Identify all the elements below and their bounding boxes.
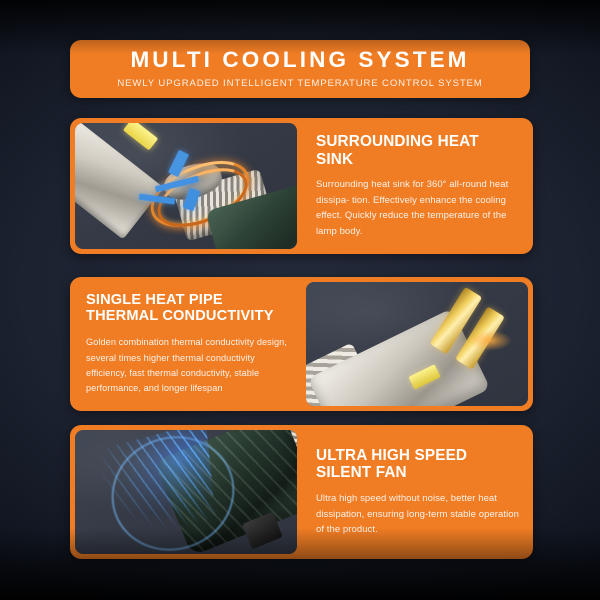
page-title: MULTI COOLING SYSTEM [130,49,469,72]
feature-card-surrounding-heat-sink: SURROUNDING HEAT SINK Surrounding heat s… [70,118,533,254]
card-text-pane: SINGLE HEAT PIPE THERMAL CONDUCTIVITY Go… [70,277,301,411]
card-title: SURROUNDING HEAT SINK [316,133,519,168]
card-image-pane [70,425,302,559]
product-photo-fan [75,430,297,554]
card-title: SINGLE HEAT PIPE THERMAL CONDUCTIVITY [86,292,291,326]
card-body: Ultra high speed without noise, better h… [316,491,519,537]
card-text-pane: SURROUNDING HEAT SINK Surrounding heat s… [302,118,533,254]
infographic-canvas: MULTI COOLING SYSTEM NEWLY UPGRADED INTE… [0,0,600,600]
photo-sheen-overlay [75,430,297,554]
card-image-pane [70,118,302,254]
card-image-pane [301,277,533,411]
feature-card-silent-fan: ULTRA HIGH SPEED SILENT FAN Ultra high s… [70,425,533,559]
photo-sheen-overlay [75,123,297,249]
feature-card-single-heat-pipe: SINGLE HEAT PIPE THERMAL CONDUCTIVITY Go… [70,277,533,411]
page-subtitle: NEWLY UPGRADED INTELLIGENT TEMPERATURE C… [117,79,482,89]
card-body: Golden combination thermal conductivity … [86,335,291,396]
card-body: Surrounding heat sink for 360° all-round… [316,177,519,239]
product-photo-heat-sink [75,123,297,249]
product-photo-heat-pipe [306,282,528,406]
card-text-pane: ULTRA HIGH SPEED SILENT FAN Ultra high s… [302,425,533,559]
card-title: ULTRA HIGH SPEED SILENT FAN [316,447,519,482]
header-banner: MULTI COOLING SYSTEM NEWLY UPGRADED INTE… [70,40,530,98]
photo-sheen-overlay [306,282,528,406]
